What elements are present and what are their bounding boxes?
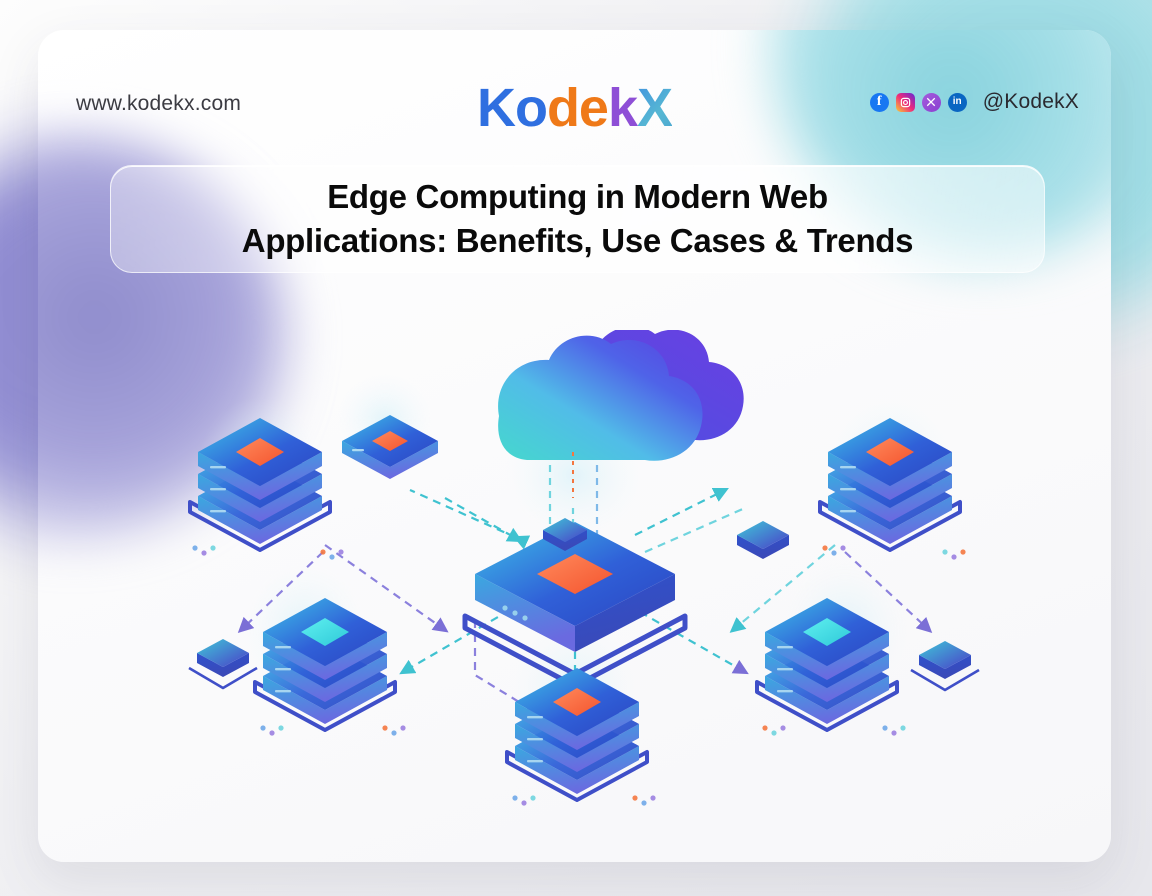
logo-part-de: de: [547, 76, 608, 140]
logo-part-ko: Ko: [477, 76, 547, 140]
linkedin-icon[interactable]: in: [948, 93, 967, 112]
poster-card: www.kodekx.com KodekX f in @KodekX: [38, 30, 1111, 862]
cloud-node: [498, 330, 744, 461]
edge-node-upper-right[interactable]: [737, 521, 789, 559]
social-links: f in @KodekX: [870, 90, 1079, 114]
x-twitter-icon[interactable]: [922, 93, 941, 112]
instagram-icon[interactable]: [896, 93, 915, 112]
edge-computing-illustration: [38, 330, 1111, 830]
header: www.kodekx.com KodekX f in @KodekX: [38, 76, 1111, 142]
poster-canvas: www.kodekx.com KodekX f in @KodekX: [0, 0, 1152, 896]
page-title-line-2: Applications: Benefits, Use Cases & Tren…: [242, 219, 913, 263]
page-title-line-1: Edge Computing in Modern Web: [242, 175, 913, 219]
page-title: Edge Computing in Modern Web Application…: [216, 175, 939, 263]
social-handle[interactable]: @KodekX: [983, 90, 1079, 114]
edge-node-lower-right[interactable]: [911, 641, 979, 690]
logo-part-k: k: [608, 76, 637, 140]
logo-part-x: X: [637, 76, 672, 140]
facebook-icon[interactable]: f: [870, 93, 889, 112]
network-diagram-svg: [145, 330, 1005, 830]
title-panel: Edge Computing in Modern Web Application…: [110, 165, 1045, 273]
